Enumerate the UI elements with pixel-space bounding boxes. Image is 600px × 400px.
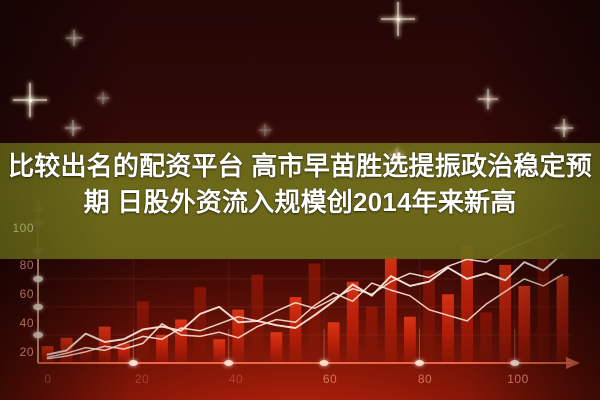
x-tick-label-80: 80 [410, 372, 440, 386]
headline-text: 比较出名的配资平台 高市早苗胜选提振政治稳定预 期 日股外资流入规模创2014年… [0, 148, 600, 220]
y-tick-label-100: 100 [6, 221, 34, 235]
headline-line-1: 比较出名的配资平台 高市早苗胜选提振政治稳定预 [0, 148, 600, 184]
x-tick-label-60: 60 [315, 372, 345, 386]
x-tick-label-20: 20 [127, 372, 157, 386]
y-tick-label-80: 80 [6, 258, 34, 272]
y-tick-label-60: 60 [6, 287, 34, 301]
x-tick-label-0: 0 [33, 372, 63, 386]
y-tick-label-40: 40 [6, 316, 34, 330]
x-tick-label-100: 100 [503, 372, 533, 386]
headline-line-2: 期 日股外资流入规模创2014年来新高 [0, 184, 600, 220]
y-tick-label-20: 20 [6, 345, 34, 359]
image-canvas: 100 80 60 40 20 0 20 40 60 80 100 比较出名的配… [0, 0, 600, 400]
x-tick-label-40: 40 [221, 372, 251, 386]
